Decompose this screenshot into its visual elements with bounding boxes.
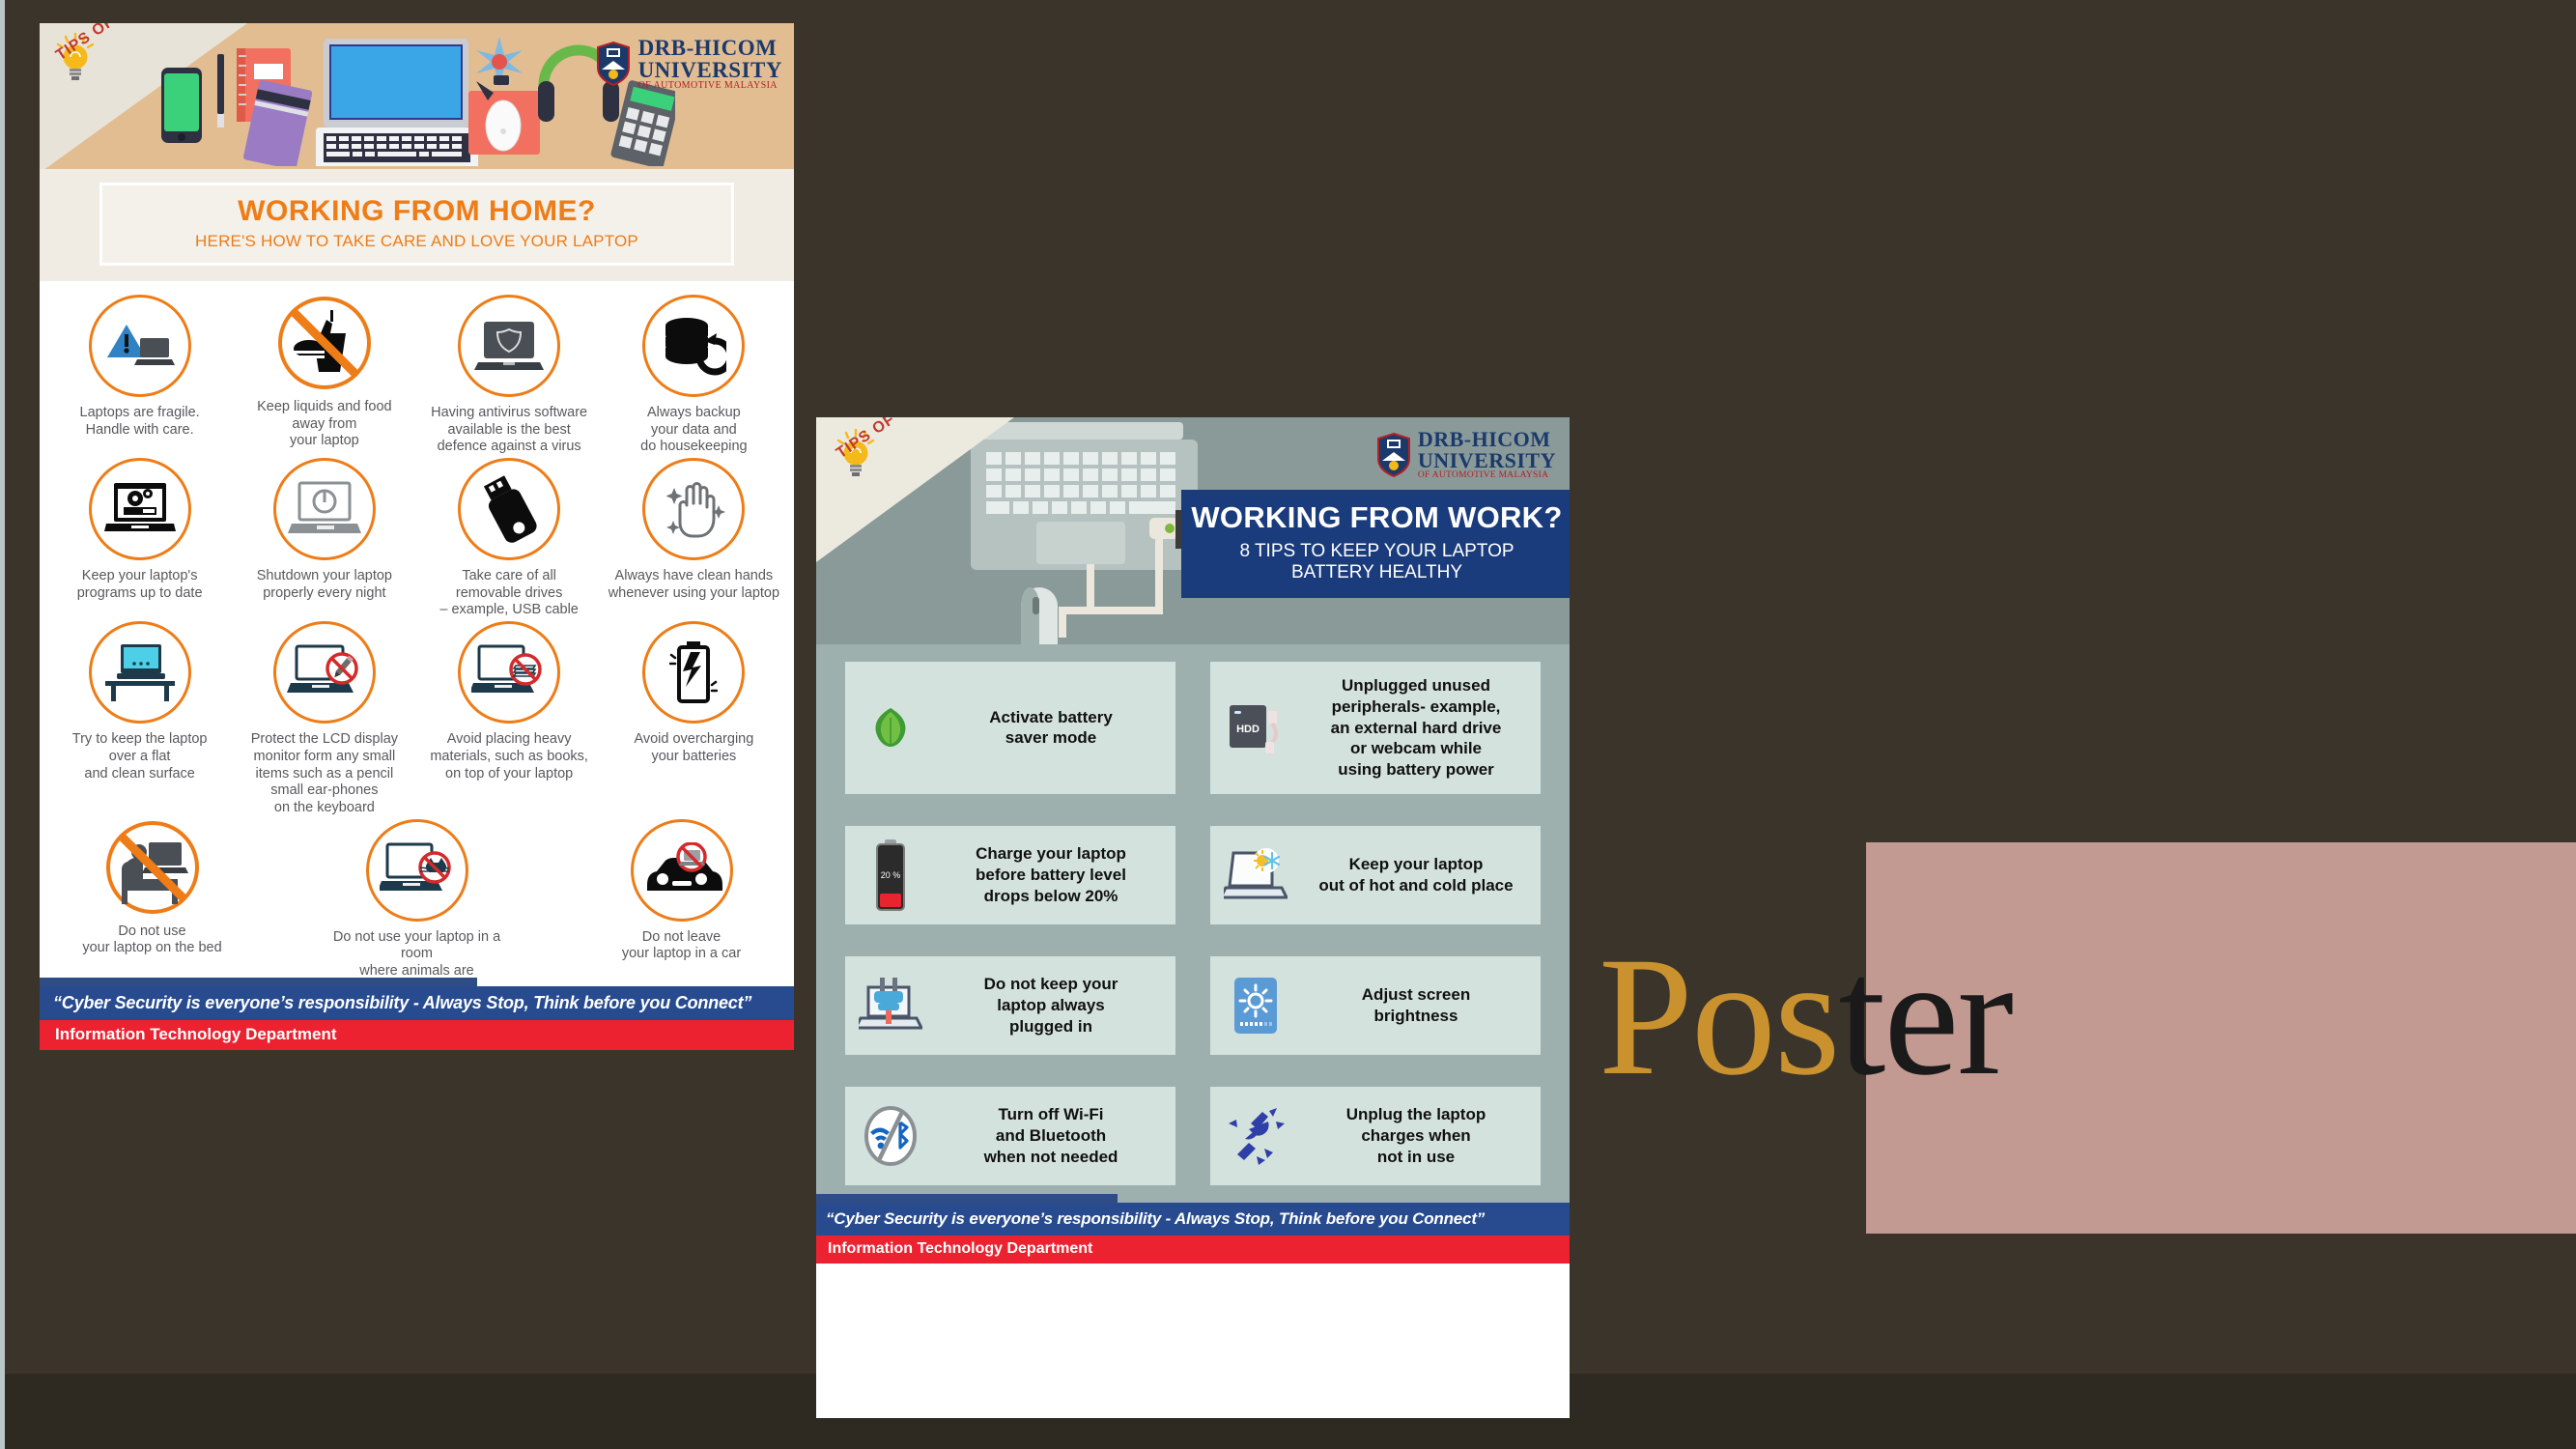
tip-text: Keep your laptopout of hot and cold plac… bbox=[1303, 854, 1529, 896]
battery-tip-card[interactable]: HDD Unplugged unusedperipherals- example… bbox=[1210, 662, 1541, 794]
poster2-tips-row: 20 % Charge your laptopbefore battery le… bbox=[845, 826, 1541, 924]
university-logo: DRB-HICOM UNIVERSITY OF AUTOMOTIVE MALAY… bbox=[1376, 429, 1556, 481]
poster2-tips-grid: Activate batterysaver mode HDD Unplugged… bbox=[816, 644, 1570, 1203]
tip-text: Do not keep yourlaptop alwaysplugged in bbox=[938, 974, 1164, 1037]
poster1-hero: TIPS OF THE DAY bbox=[40, 23, 794, 169]
tip-text: Unplugged unusedperipherals- example,an … bbox=[1303, 675, 1529, 781]
poster1-tips-row: Do not useyour laptop on the bed Do not … bbox=[47, 819, 786, 980]
poster1-tips-row: Laptops are fragile.Handle with care. Ke… bbox=[47, 295, 786, 456]
poster1-title-box: WORKING FROM HOME? HERE'S HOW TO TAKE CA… bbox=[99, 183, 734, 266]
laptop-update-gears-icon bbox=[89, 458, 191, 560]
tip-caption: Always have clean handswhenever using yo… bbox=[604, 568, 783, 602]
fragile-laptop-warning-icon bbox=[89, 295, 191, 397]
clean-hands-icon bbox=[642, 458, 745, 560]
usb-flash-drive-icon bbox=[458, 458, 560, 560]
laptop-plug-icon bbox=[857, 976, 924, 1036]
poster2-title-box: WORKING FROM WORK? 8 TIPS TO KEEP YOUR L… bbox=[1181, 490, 1570, 598]
university-logo: DRB-HICOM UNIVERSITY OF AUTOMOTIVE MALAY… bbox=[596, 37, 782, 91]
battery-20-percent-icon: 20 % bbox=[857, 839, 924, 911]
svg-text:20 %: 20 % bbox=[881, 870, 901, 880]
no-laptop-in-car-icon bbox=[631, 819, 733, 922]
tip-card[interactable]: Shutdown your laptopproperly every night bbox=[235, 458, 414, 602]
damaged-battery-icon bbox=[642, 621, 745, 724]
tip-card[interactable]: Keep your laptop'sprograms up to date bbox=[50, 458, 230, 602]
tip-card[interactable]: Avoid placing heavymaterials, such as bo… bbox=[419, 621, 599, 782]
battery-tip-card[interactable]: Adjust screenbrightness bbox=[1210, 956, 1541, 1055]
tip-card[interactable]: Take care of allremovable drives– exampl… bbox=[419, 458, 599, 619]
tip-caption: Take care of allremovable drives– exampl… bbox=[419, 568, 599, 619]
footer-tab-accent bbox=[40, 978, 477, 987]
no-pencil-on-keyboard-icon bbox=[273, 621, 376, 724]
laptop-on-desk-icon bbox=[89, 621, 191, 724]
battery-tip-card[interactable]: Keep your laptopout of hot and cold plac… bbox=[1210, 826, 1541, 924]
tip-card[interactable]: Do not use your laptop in a roomwhere an… bbox=[327, 819, 507, 980]
shield-crest-icon bbox=[1376, 433, 1411, 477]
tip-caption: Do not use your laptop in a roomwhere an… bbox=[327, 929, 507, 980]
unplug-charger-icon bbox=[1222, 1106, 1289, 1166]
tip-card[interactable]: Avoid overchargingyour batteries bbox=[604, 621, 783, 765]
tip-card[interactable]: Do not leaveyour laptop in a car bbox=[592, 819, 772, 963]
no-laptop-on-bed-icon bbox=[104, 819, 201, 916]
brand-line-3: OF AUTOMOTIVE MALAYSIA bbox=[1418, 471, 1556, 481]
eco-leaf-battery-saver-icon bbox=[857, 704, 924, 751]
poster1-footer: “Cyber Security is everyone’s responsibi… bbox=[40, 986, 794, 1050]
tip-text: Unplug the laptopcharges whennot in use bbox=[1303, 1104, 1529, 1167]
brand-line-2: UNIVERSITY bbox=[638, 59, 782, 81]
poster2-tips-row: Turn off Wi-Fiand Bluetoothwhen not need… bbox=[845, 1087, 1541, 1185]
battery-tip-card[interactable]: 20 % Charge your laptopbefore battery le… bbox=[845, 826, 1175, 924]
poster2-tips-row: Activate batterysaver mode HDD Unplugged… bbox=[845, 662, 1541, 794]
brand-line-1: DRB-HICOM bbox=[638, 37, 782, 59]
battery-tip-card[interactable]: Do not keep yourlaptop alwaysplugged in bbox=[845, 956, 1175, 1055]
tip-caption: Having antivirus softwareavailable is th… bbox=[419, 405, 599, 456]
brand-line-2: UNIVERSITY bbox=[1418, 450, 1556, 471]
tip-caption: Try to keep the laptopover a flatand cle… bbox=[50, 731, 230, 782]
poster-working-from-work[interactable]: TIPS OF THE DAY DRB-HICOM UNIVERSITY OF … bbox=[816, 417, 1570, 1418]
poster-watermark-text: Poster bbox=[1599, 932, 2012, 1102]
tip-text: Charge your laptopbefore battery leveldr… bbox=[938, 843, 1164, 906]
poster1-tips-row: Try to keep the laptopover a flatand cle… bbox=[47, 621, 786, 816]
tip-text: Turn off Wi-Fiand Bluetoothwhen not need… bbox=[938, 1104, 1164, 1167]
external-hard-drive-icon: HDD bbox=[1222, 697, 1289, 757]
tip-caption: Keep your laptop'sprograms up to date bbox=[50, 568, 230, 602]
poster-working-from-home[interactable]: TIPS OF THE DAY bbox=[40, 23, 794, 1050]
tip-caption: Always backupyour data anddo housekeepin… bbox=[604, 405, 783, 456]
tip-caption: Avoid placing heavymaterials, such as bo… bbox=[419, 731, 599, 782]
tip-card[interactable]: Laptops are fragile.Handle with care. bbox=[50, 295, 230, 439]
poster1-footer-quote: “Cyber Security is everyone’s responsibi… bbox=[40, 986, 794, 1020]
tip-card[interactable]: Try to keep the laptopover a flatand cle… bbox=[50, 621, 230, 782]
tip-card[interactable]: Do not useyour laptop on the bed bbox=[63, 819, 242, 957]
tip-card[interactable]: Always have clean handswhenever using yo… bbox=[604, 458, 783, 602]
tip-caption: Avoid overchargingyour batteries bbox=[604, 731, 783, 765]
poster1-tips-grid: Laptops are fragile.Handle with care. Ke… bbox=[40, 281, 794, 986]
tip-text: Adjust screenbrightness bbox=[1303, 984, 1529, 1027]
poster2-footer-department: Information Technology Department bbox=[816, 1236, 1570, 1264]
stage-left-edge-strip bbox=[0, 0, 5, 1449]
svg-text:HDD: HDD bbox=[1236, 724, 1260, 735]
database-backup-icon bbox=[642, 295, 745, 397]
tip-card[interactable]: Keep liquids and foodaway fromyour lapto… bbox=[235, 295, 414, 450]
shield-crest-icon bbox=[596, 42, 631, 86]
no-books-on-laptop-icon bbox=[458, 621, 560, 724]
poster1-title-area: WORKING FROM HOME? HERE'S HOW TO TAKE CA… bbox=[40, 169, 794, 281]
tip-caption: Laptops are fragile.Handle with care. bbox=[50, 405, 230, 439]
wifi-bluetooth-off-icon bbox=[857, 1105, 924, 1167]
tip-card[interactable]: Having antivirus softwareavailable is th… bbox=[419, 295, 599, 456]
poster2-footer-quote: “Cyber Security is everyone’s responsibi… bbox=[816, 1203, 1570, 1236]
tip-card[interactable]: Protect the LCD displaymonitor form any … bbox=[235, 621, 414, 816]
tip-caption: Do not leaveyour laptop in a car bbox=[592, 929, 772, 963]
footer-tab-accent bbox=[816, 1194, 1118, 1204]
poster2-subtitle: 8 TIPS TO KEEP YOUR LAPTOPBATTERY HEALTH… bbox=[1191, 541, 1563, 584]
screen-brightness-icon bbox=[1222, 976, 1289, 1036]
tip-card[interactable]: Always backupyour data anddo housekeepin… bbox=[604, 295, 783, 456]
no-pets-near-laptop-icon bbox=[366, 819, 468, 922]
poster-watermark-dark: ter bbox=[1838, 923, 2012, 1111]
tip-caption: Protect the LCD displaymonitor form any … bbox=[235, 731, 414, 816]
poster1-subtitle: HERE'S HOW TO TAKE CARE AND LOVE YOUR LA… bbox=[102, 232, 731, 251]
poster1-tips-row: Keep your laptop'sprograms up to date Sh… bbox=[47, 458, 786, 619]
poster-watermark-gold: Pos bbox=[1599, 923, 1838, 1111]
tip-caption: Shutdown your laptopproperly every night bbox=[235, 568, 414, 602]
tip-caption: Do not useyour laptop on the bed bbox=[63, 923, 242, 957]
no-food-drink-icon bbox=[276, 295, 373, 391]
tip-caption: Keep liquids and foodaway fromyour lapto… bbox=[235, 399, 414, 450]
battery-tip-card[interactable]: Activate batterysaver mode bbox=[845, 662, 1175, 794]
battery-tip-card[interactable]: Unplug the laptopcharges whennot in use bbox=[1210, 1087, 1541, 1185]
poster2-hero: TIPS OF THE DAY DRB-HICOM UNIVERSITY OF … bbox=[816, 417, 1570, 644]
poster1-footer-department: Information Technology Department bbox=[40, 1020, 794, 1050]
poster2-title: WORKING FROM WORK? bbox=[1191, 502, 1563, 534]
tip-text: Activate batterysaver mode bbox=[938, 707, 1164, 750]
brand-line-1: DRB-HICOM bbox=[1418, 429, 1556, 450]
brand-line-3: OF AUTOMOTIVE MALAYSIA bbox=[638, 81, 782, 91]
laptop-hot-cold-icon bbox=[1222, 847, 1289, 903]
antivirus-shield-laptop-icon bbox=[458, 295, 560, 397]
poster1-title: WORKING FROM HOME? bbox=[102, 195, 731, 228]
battery-tip-card[interactable]: Turn off Wi-Fiand Bluetoothwhen not need… bbox=[845, 1087, 1175, 1185]
poster2-tips-row: Do not keep yourlaptop alwaysplugged in bbox=[845, 956, 1541, 1055]
laptop-power-off-icon bbox=[273, 458, 376, 560]
poster2-footer: “Cyber Security is everyone’s responsibi… bbox=[816, 1203, 1570, 1264]
